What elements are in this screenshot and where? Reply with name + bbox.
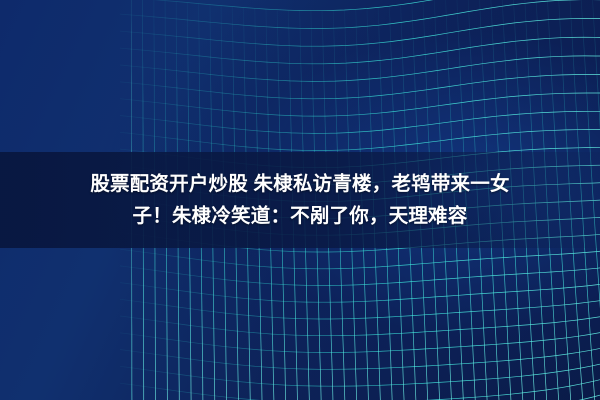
headline-line-1: 股票配资开户炒股 朱棣私访青楼，老鸨带来一女 [90, 171, 509, 197]
page-title: 股票配资开户炒股 朱棣私访青楼，老鸨带来一女 子！朱棣冷笑道：不剐了你，天理难容 [0, 152, 600, 248]
headline-line-2: 子！朱棣冷笑道：不剐了你，天理难容 [133, 203, 468, 229]
promo-banner: 股票配资开户炒股 朱棣私访青楼，老鸨带来一女 子！朱棣冷笑道：不剐了你，天理难容 [0, 0, 600, 400]
